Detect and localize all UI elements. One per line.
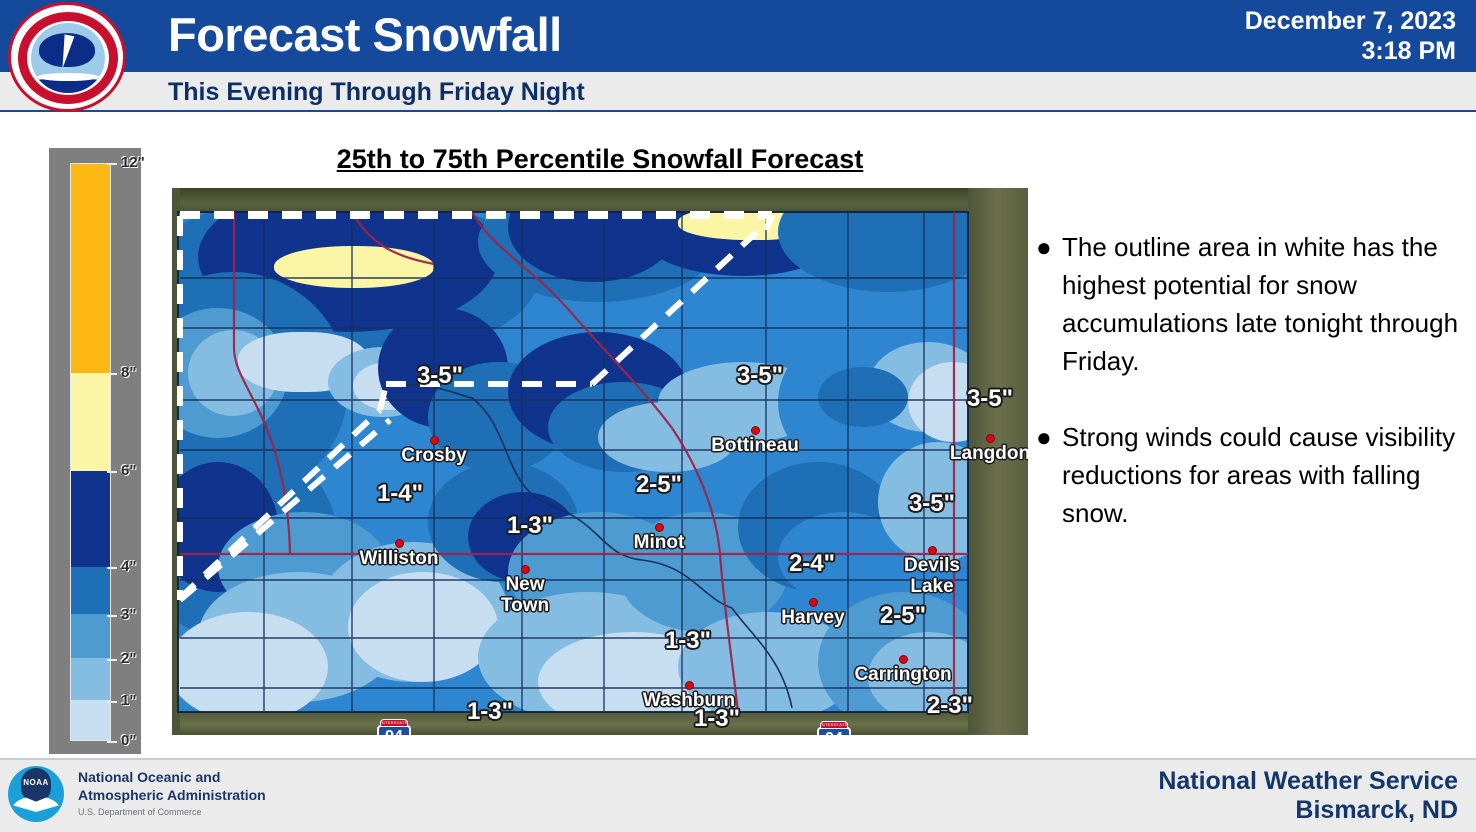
colorbar-tick-mark [107, 471, 117, 473]
page-subtitle: This Evening Through Friday Night [168, 76, 585, 108]
colorbar-tick-mark [107, 163, 117, 165]
bullet-marker-icon: ● [1036, 418, 1062, 532]
snowfall-amount-label: 2-5" [861, 603, 945, 629]
colorbar-band [71, 373, 110, 471]
nws-logo-inner [31, 23, 105, 93]
bullet-text: Strong winds could cause visibility redu… [1062, 418, 1468, 532]
colorbar-band [71, 658, 110, 700]
snowfall-amount-label: 3-5" [718, 363, 802, 389]
snowfall-amount-label: 1-3" [646, 628, 730, 654]
snowfall-amount-label: 1-3" [488, 513, 572, 539]
colorbar-tick-labels: 12"8"6"4"3"2"1"0" [111, 163, 141, 741]
colorbar-tick: 1" [121, 692, 136, 709]
nws-logo-wave [37, 73, 99, 81]
noaa-logo-wordmark: NOAA [23, 778, 49, 787]
city-name-label: NewTown [465, 574, 585, 616]
noaa-logo-circle: NOAA [8, 766, 64, 822]
city-marker-dot[interactable] [928, 546, 937, 555]
city-marker-dot[interactable] [395, 539, 404, 548]
colorbar-tick: 3" [121, 606, 136, 623]
noaa-department-line: U.S. Department of Commerce [78, 806, 202, 818]
city-marker-dot[interactable] [751, 426, 760, 435]
city-name-label: Williston [339, 548, 459, 569]
colorbar-tick-mark [107, 567, 117, 569]
city-name-label: Harvey [753, 607, 873, 628]
office-location: Bismarck, ND [858, 795, 1458, 825]
interstate-shield-icon: INTERSTATE94 [817, 721, 851, 735]
noaa-logo-icon: NOAA [8, 766, 64, 822]
header-time: 3:18 PM [956, 36, 1456, 66]
office-name: National Weather Service [858, 766, 1458, 796]
map-terrain-north [172, 188, 1028, 214]
contour-band [778, 212, 968, 292]
north-dakota-snowfall-contours [178, 212, 968, 712]
snowfall-amount-label: 2-3" [908, 693, 992, 719]
colorbar-tick: 12" [121, 154, 145, 171]
colorbar-band [71, 614, 110, 658]
city-name-label: DevilsLake [872, 555, 992, 597]
colorbar-tick-mark [107, 373, 117, 375]
header-date: December 7, 2023 [956, 6, 1456, 36]
noaa-name-line-2: Atmospheric Administration [78, 786, 266, 804]
colorbar-tick-mark [107, 659, 117, 661]
colorbar-tick: 8" [121, 364, 136, 381]
snowfall-amount-label: 1-3" [675, 706, 759, 732]
snowfall-amount-label: 3-5" [398, 363, 482, 389]
map-terrain-south [172, 709, 1028, 735]
colorbar-tick: 2" [121, 650, 136, 667]
shield-number: 94 [377, 728, 411, 735]
colorbar-tick-mark [107, 741, 117, 743]
interstate-shield-icon: INTERSTATE94 [377, 719, 411, 735]
noaa-name-line-1: National Oceanic and [78, 768, 220, 786]
bullet-item: ●The outline area in white has the highe… [1036, 228, 1468, 380]
city-name-label: Langdon [930, 443, 1028, 464]
nws-logo-icon [8, 2, 126, 112]
city-marker-dot[interactable] [685, 681, 694, 690]
snowfall-amount-label: 1-4" [358, 481, 442, 507]
page-title: Forecast Snowfall [168, 4, 562, 66]
shield-banner-text: INTERSTATE [817, 722, 851, 728]
city-name-label: Minot [599, 532, 719, 553]
contour-band [818, 367, 908, 427]
bullet-marker-icon: ● [1036, 228, 1062, 380]
shield-banner-text: INTERSTATE [377, 720, 411, 726]
city-marker-dot[interactable] [430, 436, 439, 445]
city-marker-dot[interactable] [521, 565, 530, 574]
city-marker-dot[interactable] [986, 434, 995, 443]
snowfall-amount-label: 2-5" [617, 472, 701, 498]
map-title: 25th to 75th Percentile Snowfall Forecas… [172, 142, 1028, 176]
colorbar-tick: 4" [121, 558, 136, 575]
colorbar-tick: 6" [121, 462, 136, 479]
contour-band-yellow [274, 246, 434, 288]
colorbar-tick: 0" [121, 732, 136, 749]
colorbar-band [71, 164, 110, 373]
snowfall-amount-label: 3-5" [948, 386, 1028, 412]
colorbar-band [71, 700, 110, 740]
bullet-list: ●The outline area in white has the highe… [1036, 228, 1468, 570]
colorbar-panel: Storm Total Snow Amounts (in) 12"8"6"4"3… [49, 148, 141, 754]
city-marker-dot[interactable] [899, 655, 908, 664]
snowfall-amount-label: 2-4" [770, 551, 854, 577]
city-name-label: Bottineau [695, 435, 815, 456]
city-marker-dot[interactable] [809, 598, 818, 607]
colorbar-gradient [70, 163, 111, 741]
snowfall-amount-label: 1-3" [448, 699, 532, 725]
colorbar-tick-mark [107, 615, 117, 617]
shield-number: 94 [817, 730, 851, 735]
colorbar-band [71, 471, 110, 567]
city-name-label: Carrington [843, 664, 963, 685]
colorbar-tick-mark [107, 701, 117, 703]
bullet-item: ●Strong winds could cause visibility red… [1036, 418, 1468, 532]
city-name-label: Crosby [374, 445, 494, 466]
colorbar-band [71, 567, 110, 615]
bullet-text: The outline area in white has the highes… [1062, 228, 1468, 380]
snowfall-amount-label: 3-5" [890, 491, 974, 517]
city-marker-dot[interactable] [655, 523, 664, 532]
snowfall-map[interactable]: 3-5"Crosby3-5"Bottineau3-5"Langdon1-4"Wi… [172, 188, 1028, 735]
